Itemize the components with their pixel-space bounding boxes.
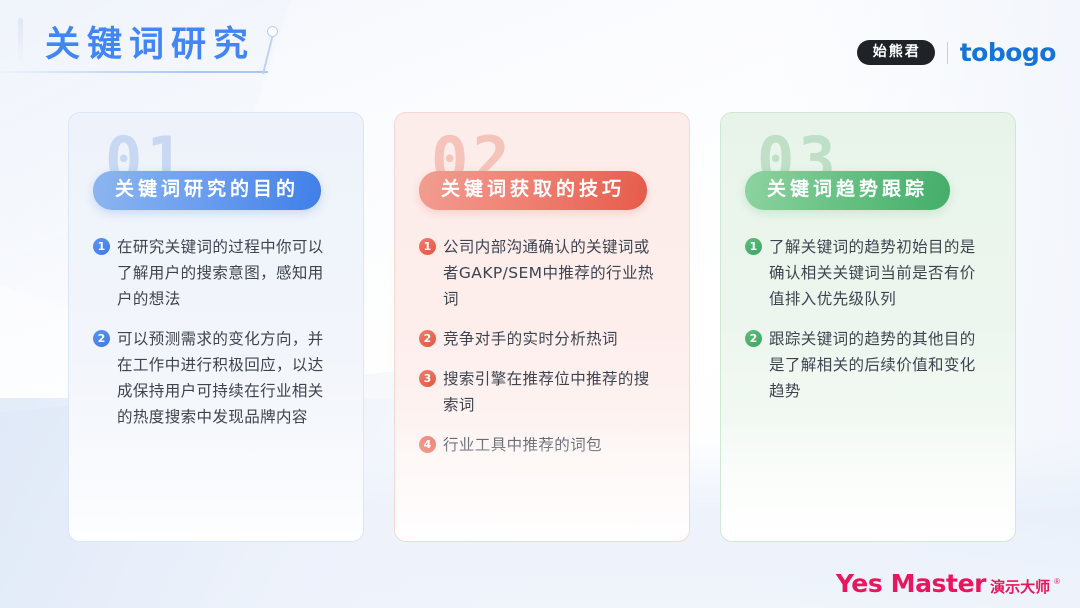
bullet-list: 1 公司内部沟通确认的关键词或者GAKP/SEM中推荐的行业热词 2 竞争对手的… bbox=[419, 234, 665, 458]
list-item: 2 跟踪关键词的趋势的其他目的是了解相关的后续价值和变化趋势 bbox=[745, 326, 989, 404]
card-02[interactable]: 02 关键词获取的技巧 1 公司内部沟通确认的关键词或者GAKP/SEM中推荐的… bbox=[394, 112, 690, 542]
list-item: 1 在研究关键词的过程中你可以了解用户的搜索意图，感知用户的想法 bbox=[93, 234, 337, 312]
card-03[interactable]: 03 关键词趋势跟踪 1 了解关键词的趋势初始目的是确认相关关键词当前是否有价值… bbox=[720, 112, 1016, 542]
card-bottom-fade bbox=[721, 421, 1015, 541]
bullet-badge: 1 bbox=[93, 238, 110, 255]
bullet-list: 1 在研究关键词的过程中你可以了解用户的搜索意图，感知用户的想法 2 可以预测需… bbox=[93, 234, 339, 430]
bullet-badge: 1 bbox=[745, 238, 762, 255]
footer-logo: Yes Master 演示大师 ® bbox=[836, 571, 1060, 596]
bullet-badge: 2 bbox=[93, 330, 110, 347]
list-item: 1 公司内部沟通确认的关键词或者GAKP/SEM中推荐的行业热词 bbox=[419, 234, 663, 312]
bullet-badge: 2 bbox=[419, 330, 436, 347]
bullet-text: 了解关键词的趋势初始目的是确认相关关键词当前是否有价值排入优先级队列 bbox=[769, 234, 989, 312]
bullet-list: 1 了解关键词的趋势初始目的是确认相关关键词当前是否有价值排入优先级队列 2 跟… bbox=[745, 234, 991, 404]
bullet-text: 在研究关键词的过程中你可以了解用户的搜索意图，感知用户的想法 bbox=[117, 234, 337, 312]
card-01[interactable]: 01 关键词研究的目的 1 在研究关键词的过程中你可以了解用户的搜索意图，感知用… bbox=[68, 112, 364, 542]
bullet-text: 搜索引擎在推荐位中推荐的搜索词 bbox=[443, 366, 663, 418]
brand-wordmark: tobogo bbox=[960, 40, 1056, 65]
list-item: 2 竞争对手的实时分析热词 bbox=[419, 326, 663, 352]
bullet-badge: 4 bbox=[419, 436, 436, 453]
bullet-text: 公司内部沟通确认的关键词或者GAKP/SEM中推荐的行业热词 bbox=[443, 234, 663, 312]
card-title-pill: 关键词获取的技巧 bbox=[419, 171, 647, 210]
bullet-badge: 3 bbox=[419, 370, 436, 387]
title-underline bbox=[0, 71, 268, 73]
list-item: 3 搜索引擎在推荐位中推荐的搜索词 bbox=[419, 366, 663, 418]
title-slash-decoration bbox=[262, 31, 275, 74]
bullet-text: 行业工具中推荐的词包 bbox=[443, 432, 602, 458]
brand-pill-badge: 始熊君 bbox=[857, 40, 935, 65]
bullet-badge: 1 bbox=[419, 238, 436, 255]
bullet-text: 可以预测需求的变化方向，并在工作中进行积极回应，以达成保持用户可持续在行业相关的… bbox=[117, 326, 337, 430]
title-accent-bar bbox=[18, 18, 23, 64]
footer-trademark: ® bbox=[1054, 578, 1060, 586]
list-item: 2 可以预测需求的变化方向，并在工作中进行积极回应，以达成保持用户可持续在行业相… bbox=[93, 326, 337, 430]
slide-root: 关键词研究 始熊君 tobogo 01 关键词研究的目的 1 在研究关键词的过程… bbox=[0, 0, 1080, 608]
slide-header: 关键词研究 始熊君 tobogo bbox=[0, 0, 1080, 95]
footer-brand-en: Yes Master bbox=[836, 571, 986, 596]
footer-brand-cn: 演示大师 bbox=[990, 579, 1050, 596]
bullet-badge: 2 bbox=[745, 330, 762, 347]
brand-divider bbox=[947, 42, 948, 64]
card-bottom-fade bbox=[69, 421, 363, 541]
card-title-pill: 关键词研究的目的 bbox=[93, 171, 321, 210]
bullet-text: 竞争对手的实时分析热词 bbox=[443, 326, 618, 352]
title-circle-decoration bbox=[267, 26, 278, 37]
card-title-pill: 关键词趋势跟踪 bbox=[745, 171, 950, 210]
list-item: 1 了解关键词的趋势初始目的是确认相关关键词当前是否有价值排入优先级队列 bbox=[745, 234, 989, 312]
bullet-text: 跟踪关键词的趋势的其他目的是了解相关的后续价值和变化趋势 bbox=[769, 326, 989, 404]
card-list: 01 关键词研究的目的 1 在研究关键词的过程中你可以了解用户的搜索意图，感知用… bbox=[68, 112, 1020, 544]
page-title: 关键词研究 bbox=[45, 16, 255, 67]
brand-group: 始熊君 tobogo bbox=[857, 40, 1056, 65]
list-item: 4 行业工具中推荐的词包 bbox=[419, 432, 663, 458]
